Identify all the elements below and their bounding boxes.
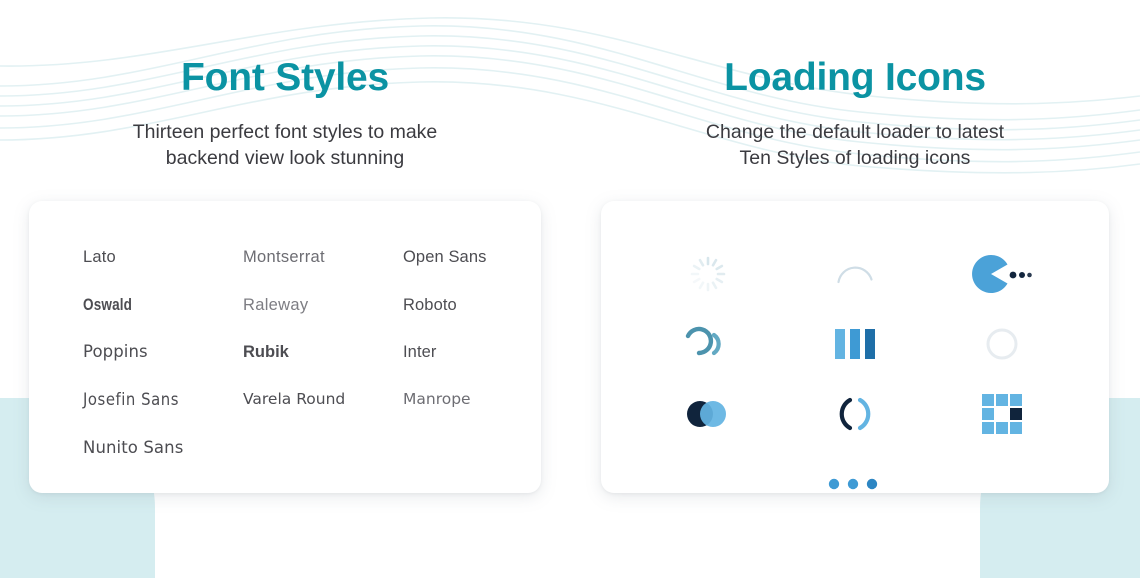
font-item-inter[interactable]: Inter [403, 340, 523, 365]
three-bars-icon [832, 327, 878, 361]
two-circles-icon [685, 399, 731, 429]
loading-icons-card [601, 201, 1109, 493]
subtitle-font-styles: Thirteen perfect font styles to make bac… [133, 120, 438, 172]
loader-cell-6[interactable] [928, 309, 1075, 379]
subtitle-loading-icons: Change the default loader to latest Ten … [706, 120, 1004, 172]
three-dots-icon [827, 476, 883, 492]
loader-list [601, 219, 1109, 519]
ring-outline-icon [984, 326, 1020, 362]
loader-cell-10[interactable] [635, 449, 1075, 519]
panel-font-styles: Font Styles Thirteen perfect font styles… [0, 0, 570, 578]
page-title-font-styles: Font Styles [181, 58, 389, 99]
font-item-nunito-sans[interactable]: Nunito Sans [83, 436, 243, 461]
loader-cell-2[interactable] [782, 239, 929, 309]
font-item-poppins[interactable]: Poppins [83, 340, 243, 365]
loader-cell-9[interactable] [928, 379, 1075, 449]
loader-cell-7[interactable] [635, 379, 782, 449]
font-item-lato[interactable]: Lato [83, 245, 243, 270]
page-title-loading-icons: Loading Icons [724, 58, 986, 99]
dual-crescent-icon [682, 326, 734, 362]
facing-arcs-icon [833, 394, 877, 434]
font-item-oswald[interactable]: Oswald [83, 293, 214, 318]
loader-cell-5[interactable] [782, 309, 929, 379]
loader-cell-3[interactable] [928, 239, 1075, 309]
font-styles-card: Lato Montserrat Open Sans Oswald Raleway… [29, 201, 541, 493]
loader-cell-1[interactable] [635, 239, 782, 309]
loader-cell-4[interactable] [635, 309, 782, 379]
spinner-dashes-icon [688, 254, 728, 294]
pacman-dots-icon [971, 254, 1033, 294]
font-list: Lato Montserrat Open Sans Oswald Raleway… [83, 245, 541, 461]
font-item-montserrat[interactable]: Montserrat [243, 245, 403, 270]
arc-open-icon [833, 252, 877, 296]
loader-cell-8[interactable] [782, 379, 929, 449]
font-item-roboto[interactable]: Roboto [403, 293, 523, 318]
font-item-manrope[interactable]: Manrope [403, 388, 523, 413]
font-item-varela-round[interactable]: Varela Round [243, 388, 403, 413]
grid-squares-icon [982, 394, 1022, 434]
font-item-raleway[interactable]: Raleway [243, 293, 403, 318]
font-item-rubik[interactable]: Rubik [243, 340, 403, 365]
font-item-open-sans[interactable]: Open Sans [403, 245, 523, 270]
panel-loading-icons: Loading Icons Change the default loader … [570, 0, 1140, 578]
page-root: Font Styles Thirteen perfect font styles… [0, 0, 1140, 578]
font-item-josefin-sans[interactable]: Josefin Sans [83, 388, 227, 413]
